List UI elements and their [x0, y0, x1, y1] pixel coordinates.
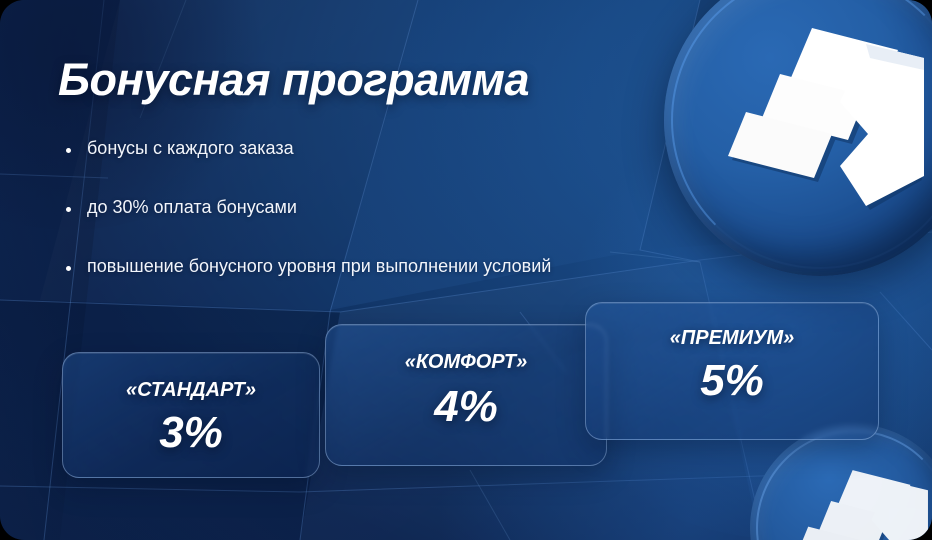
list-item-label: повышение бонусного уровня при выполнени… — [87, 256, 551, 277]
list-item-label: до 30% оплата бонусами — [87, 197, 297, 218]
bullet-dot-icon — [66, 266, 71, 271]
list-item: бонусы с каждого заказа — [66, 138, 766, 159]
list-item: до 30% оплата бонусами — [66, 197, 766, 218]
tier-percent-comfort: 4% — [326, 385, 606, 429]
tier-name-standard: «СТАНДАРТ» — [63, 379, 319, 402]
tier-name-premium: «ПРЕМИУМ» — [586, 327, 878, 350]
tier-card-comfort[interactable]: «КОМФОРТ» 4% — [325, 324, 607, 466]
page-title: Бонусная программа — [58, 54, 529, 106]
bullet-dot-icon — [66, 207, 71, 212]
bonus-program-banner: Бонусная программа бонусы с каждого зака… — [0, 0, 932, 540]
tier-card-standard[interactable]: «СТАНДАРТ» 3% — [62, 352, 320, 478]
tier-card-premium[interactable]: «ПРЕМИУМ» 5% — [585, 302, 879, 440]
tier-name-comfort: «КОМФОРТ» — [326, 351, 606, 374]
company-logo-icon-secondary — [784, 458, 932, 540]
list-item-label: бонусы с каждого заказа — [87, 138, 294, 159]
tier-percent-premium: 5% — [586, 359, 878, 403]
list-item: повышение бонусного уровня при выполнени… — [66, 256, 766, 277]
bullet-dot-icon — [66, 148, 71, 153]
tier-percent-standard: 3% — [63, 411, 319, 455]
benefits-list: бонусы с каждого заказа до 30% оплата бо… — [66, 138, 766, 315]
